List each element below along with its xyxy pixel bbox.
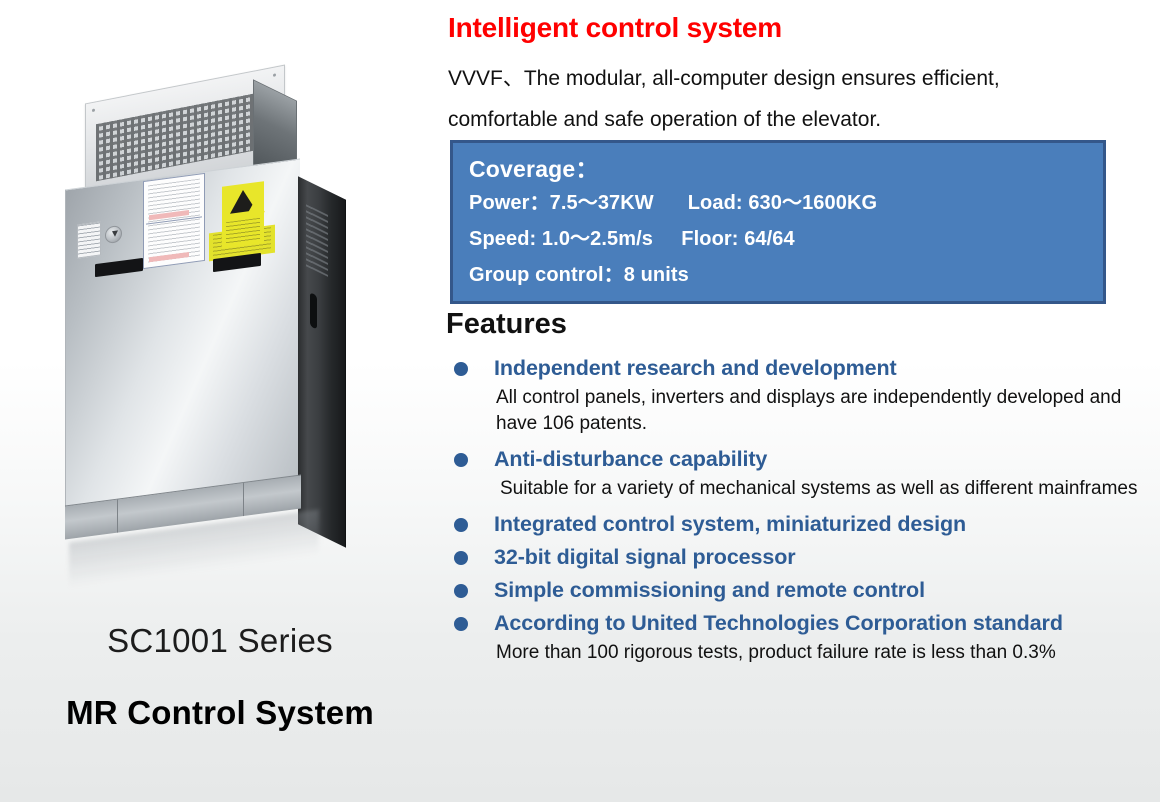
intro-paragraph: VVVF、The modular, all-computer design en…	[448, 58, 1108, 140]
feature-item: 32-bit digital signal processor	[446, 541, 1146, 574]
feature-item: Independent research and development All…	[446, 352, 1146, 437]
bullet-icon	[454, 453, 468, 467]
coverage-row-speed-floor: Speed: 1.0～2.5m/s Floor: 64/64	[469, 221, 1103, 257]
esd-warning-label	[222, 181, 264, 249]
product-series-caption: SC1001 Series	[0, 622, 440, 660]
feature-title: Anti-disturbance capability	[494, 443, 1146, 476]
base-seam	[243, 483, 244, 516]
side-handle-recess	[310, 292, 317, 329]
features-list: Independent research and development All…	[446, 352, 1146, 666]
bullet-icon	[454, 617, 468, 631]
door-instruction-placard	[77, 221, 101, 258]
feature-description: More than 100 rigorous tests, product fa…	[494, 640, 1146, 666]
warning-triangle-icon	[230, 188, 256, 213]
coverage-row-group-control: Group control：8 units	[469, 257, 1103, 293]
feature-item: Simple commissioning and remote control	[446, 574, 1146, 607]
feature-item: Integrated control system, miniaturized …	[446, 508, 1146, 541]
hood-screw-icon	[273, 73, 276, 77]
page-title: Intelligent control system	[448, 12, 782, 44]
label-text-lines	[226, 218, 260, 244]
feature-description: All control panels, inverters and displa…	[494, 385, 1146, 437]
cabinet-right-side-panel	[298, 176, 346, 547]
content-panel: Intelligent control system VVVF、The modu…	[446, 0, 1160, 802]
product-image-control-cabinet	[55, 78, 365, 548]
coverage-spec-box: Coverage： Power：7.5～37KW Load: 630～1600K…	[450, 140, 1106, 304]
bullet-icon	[454, 584, 468, 598]
feature-title: Integrated control system, miniaturized …	[494, 508, 1146, 541]
warning-triangle-inner	[247, 197, 265, 214]
product-panel: SC1001 Series MR Control System	[0, 0, 440, 802]
feature-item: According to United Technologies Corpora…	[446, 607, 1146, 666]
features-heading: Features	[446, 308, 567, 341]
bullet-icon	[454, 362, 468, 376]
dial-pointer	[112, 230, 118, 237]
feature-description: Suitable for a variety of mechanical sys…	[494, 476, 1146, 502]
feature-title: According to United Technologies Corpora…	[494, 607, 1146, 640]
feature-item: Anti-disturbance capability Suitable for…	[446, 443, 1146, 502]
label-text-lines	[148, 179, 200, 264]
feature-title: Independent research and development	[494, 352, 1146, 385]
bullet-icon	[454, 551, 468, 565]
feature-title: 32-bit digital signal processor	[494, 541, 1146, 574]
coverage-title: Coverage：	[469, 153, 1103, 185]
product-name-caption: MR Control System	[0, 694, 440, 732]
bullet-icon	[454, 518, 468, 532]
side-ventilation-slots	[306, 204, 328, 277]
coverage-row-power-load: Power：7.5～37KW Load: 630～1600KG	[469, 185, 1103, 221]
specification-label	[143, 173, 205, 269]
hood-screw-icon	[92, 108, 95, 112]
feature-title: Simple commissioning and remote control	[494, 574, 1146, 607]
base-seam	[117, 500, 118, 533]
